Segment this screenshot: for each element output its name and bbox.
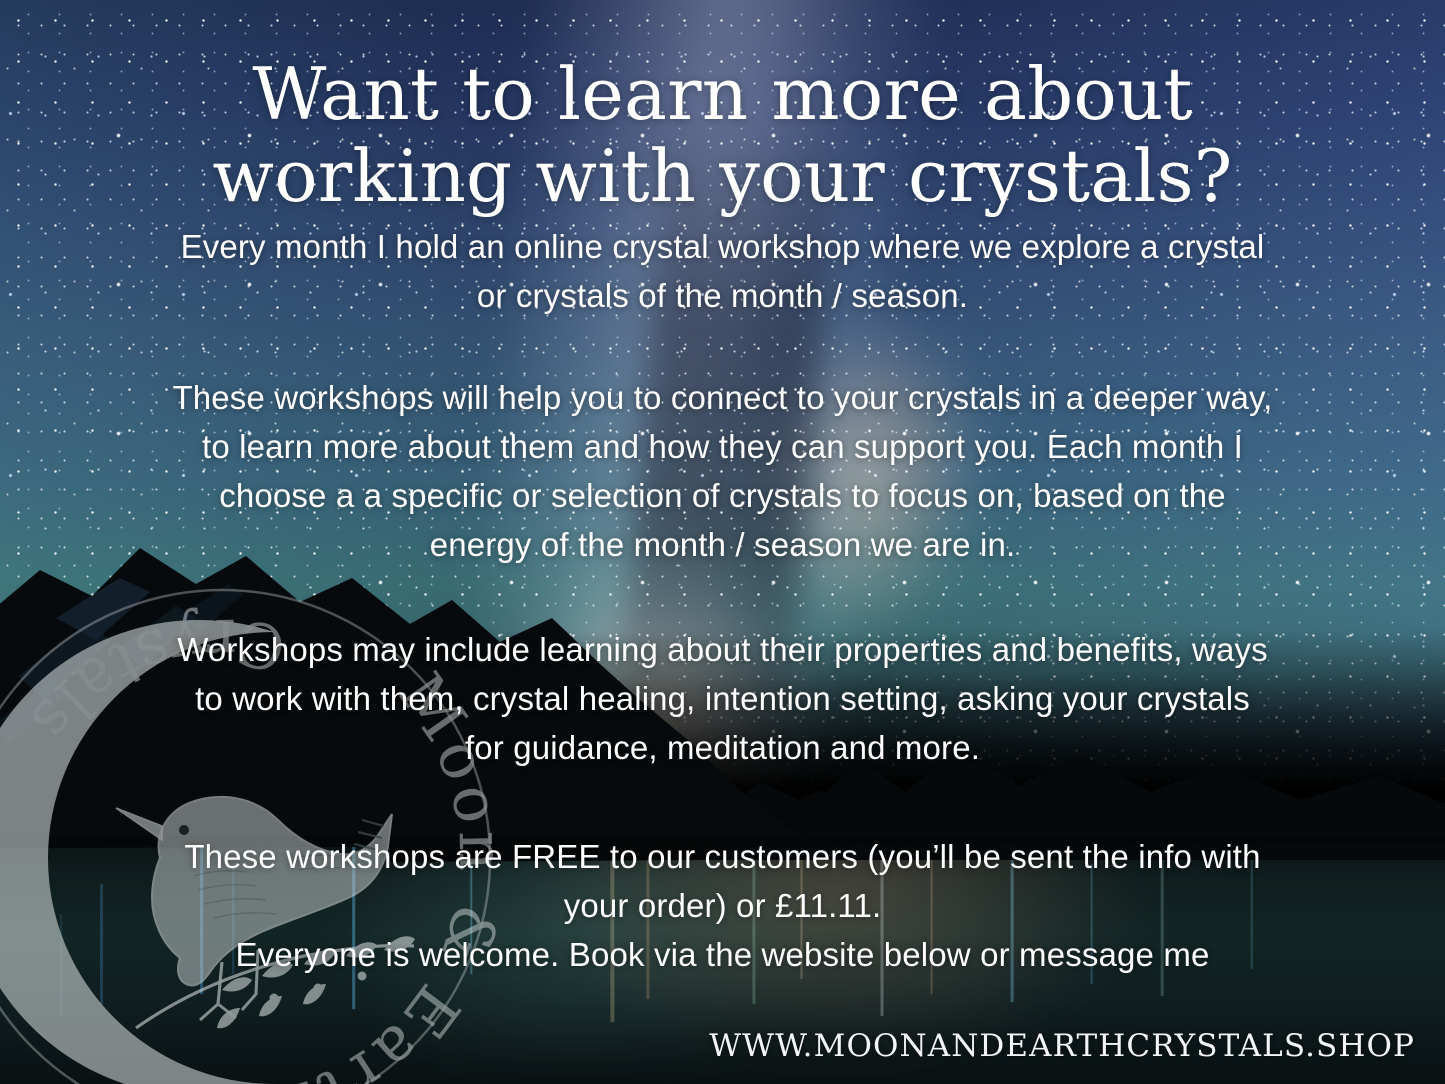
poster-text-content: Want to learn more about working with yo… [0, 0, 1445, 1084]
paragraph-line: to work with them, crystal healing, inte… [83, 674, 1363, 723]
paragraph-intro: Every month I hold an online crystal wor… [83, 222, 1363, 320]
paragraph-contents: Workshops may include learning about the… [83, 625, 1363, 772]
paragraph-line: These workshops are FREE to our customer… [83, 832, 1363, 881]
paragraph-line: for guidance, meditation and more. [83, 723, 1363, 772]
paragraph-line: Workshops may include learning about the… [83, 625, 1363, 674]
paragraph-line: Everyone is welcome. Book via the websit… [83, 930, 1363, 979]
paragraph-benefits: These workshops will help you to connect… [83, 373, 1363, 569]
website-url[interactable]: WWW.MOONANDEARTHCRYSTALS.SHOP [709, 1028, 1415, 1064]
paragraph-line: These workshops will help you to connect… [83, 373, 1363, 422]
headline-line-2: working with your crystals? [0, 136, 1445, 217]
paragraph-line: choose a a specific or selection of crys… [83, 471, 1363, 520]
headline-line-1: Want to learn more about [0, 54, 1445, 135]
paragraph-line: energy of the month / season we are in. [83, 520, 1363, 569]
paragraph-line: your order) or £11.11. [83, 881, 1363, 930]
paragraph-line: or crystals of the month / season. [83, 271, 1363, 320]
page-title: Want to learn more about working with yo… [0, 54, 1445, 217]
paragraph-line: to learn more about them and how they ca… [83, 422, 1363, 471]
crystal-workshop-poster: Moon & Earth Crystals [0, 0, 1445, 1084]
paragraph-line: Every month I hold an online crystal wor… [83, 222, 1363, 271]
paragraph-pricing: These workshops are FREE to our customer… [83, 832, 1363, 979]
